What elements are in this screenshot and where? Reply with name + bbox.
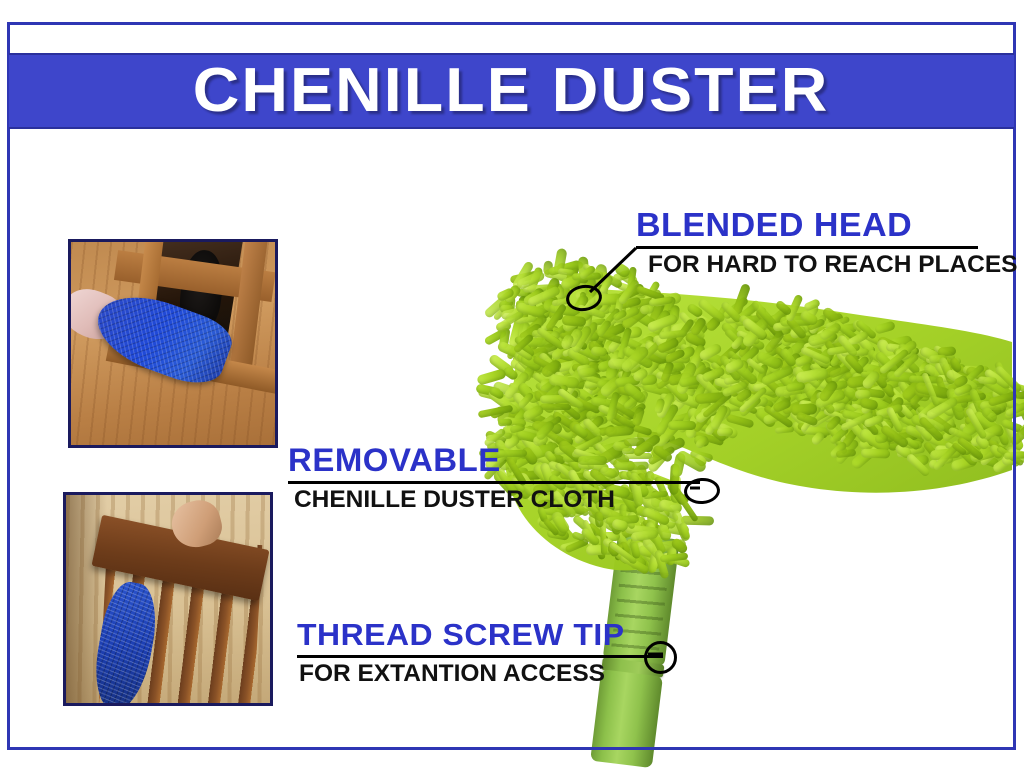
title-banner: CHENILLE DUSTER [9, 53, 1014, 129]
chenille-strand [978, 376, 998, 385]
chenille-strand [668, 421, 697, 430]
callout-blended-head-title: BLENDED HEAD [636, 208, 1021, 241]
page-title: CHENILLE DUSTER [193, 60, 830, 122]
callout-thread-screw-tip-title: THREAD SCREW TIP [297, 619, 674, 650]
photo-chair-slats-content [66, 495, 270, 703]
photo-under-furniture-content [71, 242, 275, 445]
photo-chair-slats [63, 492, 273, 706]
callout-removable: REMOVABLE CHENILLE DUSTER CLOTH [288, 444, 700, 512]
chenille-strand [593, 511, 603, 527]
callout-thread-screw-tip-rule [297, 655, 663, 658]
chenille-strand [540, 404, 571, 410]
marker-thread-screw-tip [644, 641, 677, 674]
callout-blended-head-rule [636, 246, 978, 249]
photo-under-furniture [68, 239, 278, 448]
chenille-strand [861, 448, 890, 458]
callout-removable-title: REMOVABLE [288, 444, 712, 476]
callout-blended-head: BLENDED HEAD FOR HARD TO REACH PLACES [636, 208, 1010, 277]
product-infographic: CHENILLE DUSTER [0, 0, 1024, 768]
callout-thread-screw-tip-subtitle: FOR EXTANTION ACCESS [299, 662, 670, 686]
chenille-strand [717, 428, 733, 437]
callout-thread-screw-tip: THREAD SCREW TIP FOR EXTANTION ACCESS [297, 619, 663, 686]
callout-blended-head-subtitle: FOR HARD TO REACH PLACES [648, 253, 1017, 277]
callout-removable-rule [288, 481, 700, 484]
callout-removable-subtitle: CHENILLE DUSTER CLOTH [294, 488, 708, 512]
chenille-strand [874, 321, 896, 335]
chenille-strand [1004, 451, 1024, 459]
